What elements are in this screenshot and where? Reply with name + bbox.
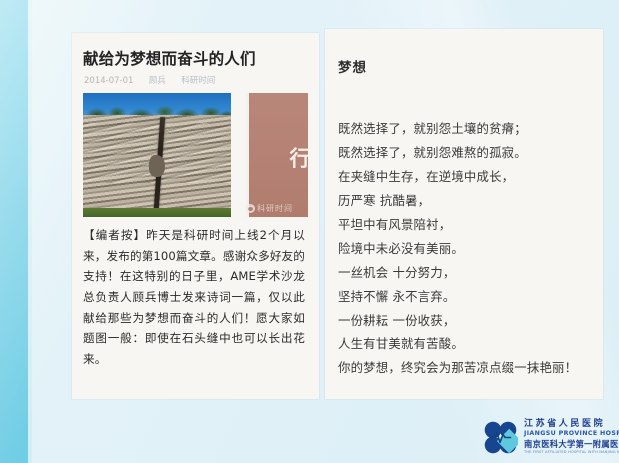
hospital-name-en: JIANGSU PROVINCE HOSPITAL: [524, 431, 619, 437]
poem-line: 人生有甘美就有苦酸。: [338, 332, 594, 356]
hospital-subname-cn: 南京医科大学第一附属医院: [524, 440, 619, 448]
article-author: 顾兵: [149, 76, 166, 86]
poem-line: 坚持不懈 永不言弃。: [338, 285, 594, 309]
article-date: 2014-07-01: [84, 76, 133, 86]
hospital-subname-en: THE FIRST AFFILIATED HOSPITAL WITH NANJI…: [524, 451, 619, 454]
slide-canvas: 献给为梦想而奋斗的人们 2014-07-01 顾兵 科研时间 与梦想同行: [0, 0, 619, 463]
watermark-text: 科研时间: [257, 203, 293, 214]
poem-line: 历严寒 抗酷暑，: [338, 189, 594, 213]
left-accent-band: [0, 0, 28, 463]
poem-line: 平坦中有风景陪衬，: [338, 213, 594, 237]
vertical-slogan-banner: 与梦想同行: [246, 93, 308, 217]
watermark-logo-icon: [246, 204, 255, 213]
poem-line: 险境中未必没有美丽。: [338, 237, 594, 261]
article-source: 科研时间: [181, 76, 215, 86]
poem-line: 既然选择了，就别怨难熬的孤寂。: [338, 141, 594, 165]
watermark: 科研时间: [246, 203, 293, 214]
hospital-name-cn: 江苏省人民医院: [524, 420, 619, 429]
left-accent-band-edge: [28, 0, 32, 463]
photo-grass: [83, 208, 231, 217]
poem-line: 一丝机会 十分努力，: [338, 261, 594, 285]
article-media-row: 与梦想同行 科研时间: [83, 93, 308, 217]
article-body-text: 【编者按】昨天是科研时间上线2个月以来，发布的第100篇文章。感谢众多好友的支持…: [83, 225, 305, 369]
photo-crack-boulder: [149, 155, 165, 177]
poem-title: 梦想: [338, 56, 367, 76]
article-meta: 2014-07-01 顾兵 科研时间: [84, 74, 312, 86]
poem-card: 梦想 既然选择了，就别怨土壤的贫瘠； 既然选择了，就别怨难熬的孤寂。 在夹缝中生…: [325, 29, 603, 399]
vertical-slogan-text: 与梦想同行: [268, 102, 308, 215]
poem-line: 在夹缝中生存，在逆境中成长，: [338, 165, 594, 189]
poem-body: 既然选择了，就别怨土壤的贫瘠； 既然选择了，就别怨难熬的孤寂。 在夹缝中生存，在…: [338, 117, 594, 380]
poem-line: 既然选择了，就别怨土壤的贫瘠；: [338, 117, 594, 141]
hospital-logo-text: 江苏省人民医院 JIANGSU PROVINCE HOSPITAL 南京医科大学…: [524, 420, 619, 454]
layered-rock-cliff-photo: [83, 93, 231, 217]
article-card: 献给为梦想而奋斗的人们 2014-07-01 顾兵 科研时间 与梦想同行: [72, 33, 319, 399]
hospital-logo: 江苏省人民医院 JIANGSU PROVINCE HOSPITAL 南京医科大学…: [483, 417, 613, 457]
poem-line: 你的梦想，终究会为那苦凉点缀一抹艳丽！: [338, 356, 594, 380]
poem-line: 一份耕耘 一份收获，: [338, 309, 594, 333]
article-title: 献给为梦想而奋斗的人们: [83, 47, 311, 69]
hospital-clover-ecg-logo-icon: [483, 420, 518, 455]
